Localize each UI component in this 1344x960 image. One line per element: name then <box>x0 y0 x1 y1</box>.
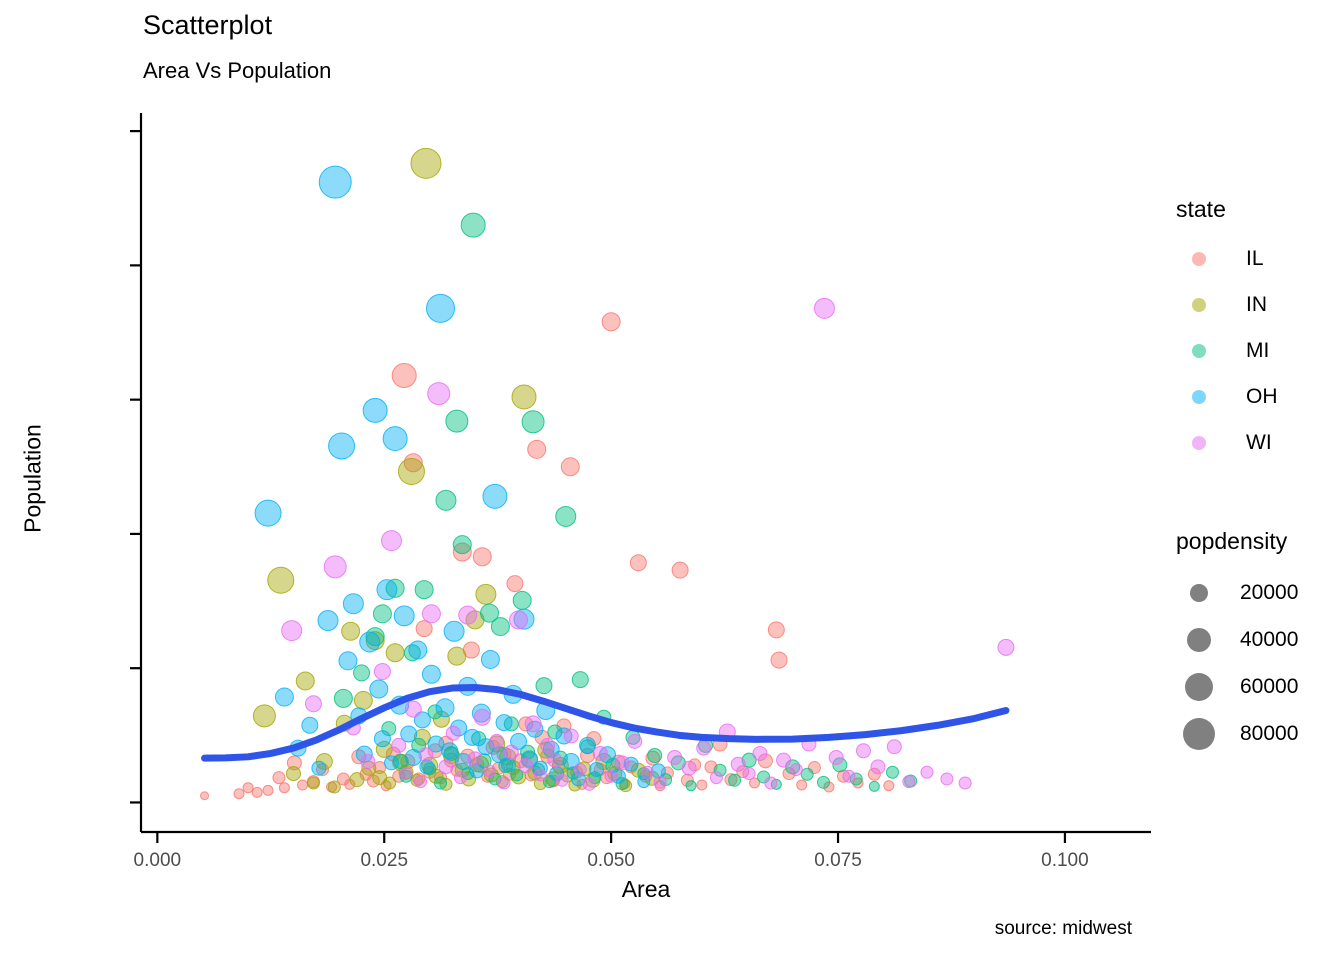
scatter-point <box>360 632 380 652</box>
series-OH <box>255 166 665 788</box>
scatter-point <box>561 458 579 476</box>
scatter-point <box>448 647 466 665</box>
scatter-point <box>334 689 352 707</box>
scatter-point <box>771 652 787 668</box>
scatter-point <box>255 500 281 526</box>
scatter-point <box>405 701 421 717</box>
scatter-point <box>328 781 340 793</box>
scatter-point <box>398 458 424 484</box>
scatter-point <box>829 750 843 764</box>
scatter-point <box>252 787 262 797</box>
scatter-point <box>374 664 390 680</box>
scatter-point <box>498 777 510 789</box>
scatter-point <box>383 427 407 451</box>
legend-item-mi[interactable]: MI <box>1176 328 1269 374</box>
scatter-point <box>444 621 464 641</box>
scatter-point <box>668 750 682 764</box>
legend-color-swatch-icon <box>1176 328 1222 374</box>
legend-item-il[interactable]: IL <box>1176 236 1264 282</box>
scatter-point <box>548 753 562 767</box>
scatter-point <box>307 777 319 789</box>
legend-size-label: 20000 <box>1240 581 1298 605</box>
scatter-point <box>459 606 477 624</box>
legend-item-in[interactable]: IN <box>1176 282 1267 328</box>
scatter-point <box>513 591 531 609</box>
scatter-point <box>590 763 604 777</box>
scatter-point <box>394 606 414 626</box>
scatter-point <box>350 773 364 787</box>
scatter-point <box>305 696 321 712</box>
scatter-point <box>731 757 745 771</box>
scatter-point <box>556 506 576 526</box>
scatter-point <box>886 766 898 778</box>
scatter-point <box>370 680 388 698</box>
scatter-point <box>710 772 722 784</box>
scatter-point <box>790 764 802 776</box>
scatter-point <box>392 363 416 387</box>
scatter-point <box>682 761 696 775</box>
scatter-point <box>959 777 971 789</box>
legend-label: WI <box>1246 431 1272 455</box>
scatter-point <box>474 709 490 725</box>
scatter-point <box>522 411 544 433</box>
legend-size-label: 80000 <box>1240 722 1298 746</box>
scatter-point <box>768 622 784 638</box>
data-points <box>201 148 1014 799</box>
scatter-point <box>464 729 480 745</box>
scatter-point <box>510 611 528 629</box>
scatter-point <box>602 313 620 331</box>
scatter-point <box>801 768 813 780</box>
legend-size-label: 40000 <box>1240 628 1298 652</box>
scatter-point <box>818 776 830 788</box>
scatter-point <box>411 148 441 178</box>
scatter-point <box>392 738 406 752</box>
scatter-point <box>496 715 512 731</box>
scatter-point <box>253 705 275 727</box>
plot-panel <box>0 0 1344 960</box>
scatter-point <box>697 741 711 755</box>
scatter-point <box>446 726 460 740</box>
legend-label: OH <box>1246 385 1278 409</box>
scatter-point <box>342 622 360 640</box>
scatter-point <box>436 490 456 510</box>
scatter-point <box>484 765 496 777</box>
scatter-point <box>454 772 466 784</box>
scatter-point <box>564 729 578 743</box>
scatter-point <box>672 562 688 578</box>
scatter-point <box>536 678 552 694</box>
scatter-point <box>263 785 273 795</box>
scatter-point <box>422 665 440 683</box>
scatter-point <box>428 383 450 405</box>
scatter-point <box>729 774 741 786</box>
scatter-point <box>385 756 399 770</box>
scatter-point <box>354 691 372 709</box>
scatter-point <box>507 576 523 592</box>
scatter-point <box>419 748 433 762</box>
scatter-point <box>648 748 662 762</box>
scatter-point <box>528 440 546 458</box>
scatter-point <box>525 716 541 732</box>
scatter-point <box>491 618 509 636</box>
scatter-point <box>765 777 777 789</box>
legend-title-state: state <box>1176 196 1226 223</box>
legend-size-item-60000[interactable]: 60000 <box>1176 664 1298 710</box>
scatter-point <box>275 688 293 706</box>
scatter-point <box>384 777 396 789</box>
scatter-point <box>473 548 491 566</box>
scatter-point <box>697 780 707 790</box>
scatter-point <box>686 781 696 791</box>
scatter-point <box>361 755 375 769</box>
legend-title-popdensity: popdensity <box>1176 528 1287 555</box>
scatter-point <box>871 760 885 774</box>
scatter-point <box>903 776 915 788</box>
scatter-point <box>296 672 314 690</box>
scatter-point <box>461 213 485 237</box>
scatter-point <box>541 738 555 752</box>
scatter-point <box>409 641 427 659</box>
scatter-point <box>998 639 1014 655</box>
scatter-point <box>243 783 253 793</box>
legend-color-swatch-icon <box>1176 420 1222 466</box>
scatter-point <box>446 410 468 432</box>
scatter-point <box>374 731 390 747</box>
scatter-point <box>382 531 402 551</box>
scatter-point <box>843 770 855 782</box>
scatter-point <box>753 746 767 760</box>
scatter-point <box>279 783 289 793</box>
scatter-point <box>519 759 533 773</box>
scatter-point <box>574 764 586 776</box>
legend-color-swatch-icon <box>1176 236 1222 282</box>
scatter-point <box>415 581 433 599</box>
scatter-point <box>512 385 536 409</box>
scatter-point <box>605 770 617 782</box>
scatter-point <box>887 740 901 754</box>
scatter-point <box>234 789 244 799</box>
scatter-point <box>436 699 454 717</box>
scatter-point <box>268 567 294 593</box>
scatter-point <box>483 484 507 508</box>
scatter-point <box>324 556 346 578</box>
scatter-point <box>442 743 458 759</box>
legend-label: IL <box>1246 247 1264 271</box>
scatter-point <box>286 767 300 781</box>
scatter-point <box>641 766 653 778</box>
scatter-point <box>273 772 285 784</box>
scatter-point <box>201 792 209 800</box>
scatter-point <box>354 665 370 681</box>
legend-size-item-40000[interactable]: 40000 <box>1176 617 1298 663</box>
series-WI <box>282 298 1014 790</box>
scatter-point <box>318 611 338 631</box>
scatter-point <box>593 746 607 760</box>
scatter-point <box>343 594 363 614</box>
scatterplot-figure: Scatterplot Area Vs Population source: m… <box>0 0 1344 960</box>
scatter-point <box>298 780 308 790</box>
scatter-point <box>654 776 666 788</box>
scatter-point <box>814 298 834 318</box>
legend-size-item-80000[interactable]: 80000 <box>1176 711 1298 757</box>
scatter-point <box>319 166 351 198</box>
legend-color-swatch-icon <box>1176 282 1222 328</box>
scatter-point <box>490 734 504 748</box>
legend-size-swatch-icon <box>1176 617 1222 663</box>
legend-size-item-20000[interactable]: 20000 <box>1176 570 1298 616</box>
scatter-point <box>439 760 453 774</box>
scatter-point <box>797 780 807 790</box>
legend-color-swatch-icon <box>1176 374 1222 420</box>
scatter-point <box>427 294 455 322</box>
scatter-point <box>615 756 629 770</box>
scatter-point <box>302 717 318 733</box>
legend-size-label: 60000 <box>1240 675 1298 699</box>
scatter-point <box>502 758 516 772</box>
scatter-point <box>329 433 355 459</box>
scatter-point <box>777 753 791 767</box>
scatter-point <box>556 774 568 786</box>
scatter-point <box>468 752 482 766</box>
scatter-point <box>630 555 646 571</box>
legend-item-oh[interactable]: OH <box>1176 374 1278 420</box>
scatter-point <box>476 584 496 604</box>
scatter-point <box>504 745 518 759</box>
legend-size-swatch-icon <box>1176 570 1222 616</box>
scatter-point <box>386 644 404 662</box>
scatter-point <box>400 768 412 780</box>
scatter-point <box>339 652 357 670</box>
legend-size-swatch-icon <box>1176 711 1222 757</box>
scatter-point <box>405 749 421 765</box>
scatter-point <box>363 398 387 422</box>
scatter-point <box>312 761 326 775</box>
axis-lines <box>141 113 1151 832</box>
scatter-point <box>580 737 596 753</box>
scatter-point <box>415 776 427 788</box>
scatter-point <box>377 580 397 600</box>
scatter-point <box>422 605 440 623</box>
scatter-point <box>572 672 588 688</box>
legend-label: IN <box>1246 293 1267 317</box>
legend-item-wi[interactable]: WI <box>1176 420 1272 466</box>
scatter-point <box>583 778 595 790</box>
legend-size-swatch-icon <box>1176 664 1222 710</box>
scatter-point <box>743 768 755 780</box>
scatter-point <box>435 777 447 789</box>
scatter-point <box>884 781 894 791</box>
scatter-point <box>373 605 391 623</box>
scatter-point <box>869 781 879 791</box>
scatter-point <box>856 744 870 758</box>
scatter-point <box>628 734 642 748</box>
scatter-point <box>481 650 499 668</box>
scatter-point <box>453 536 471 554</box>
scatter-point <box>282 621 302 641</box>
scatter-point <box>921 766 933 778</box>
scatter-point <box>941 773 953 785</box>
legend-label: MI <box>1246 339 1269 363</box>
scatter-point <box>534 769 546 781</box>
